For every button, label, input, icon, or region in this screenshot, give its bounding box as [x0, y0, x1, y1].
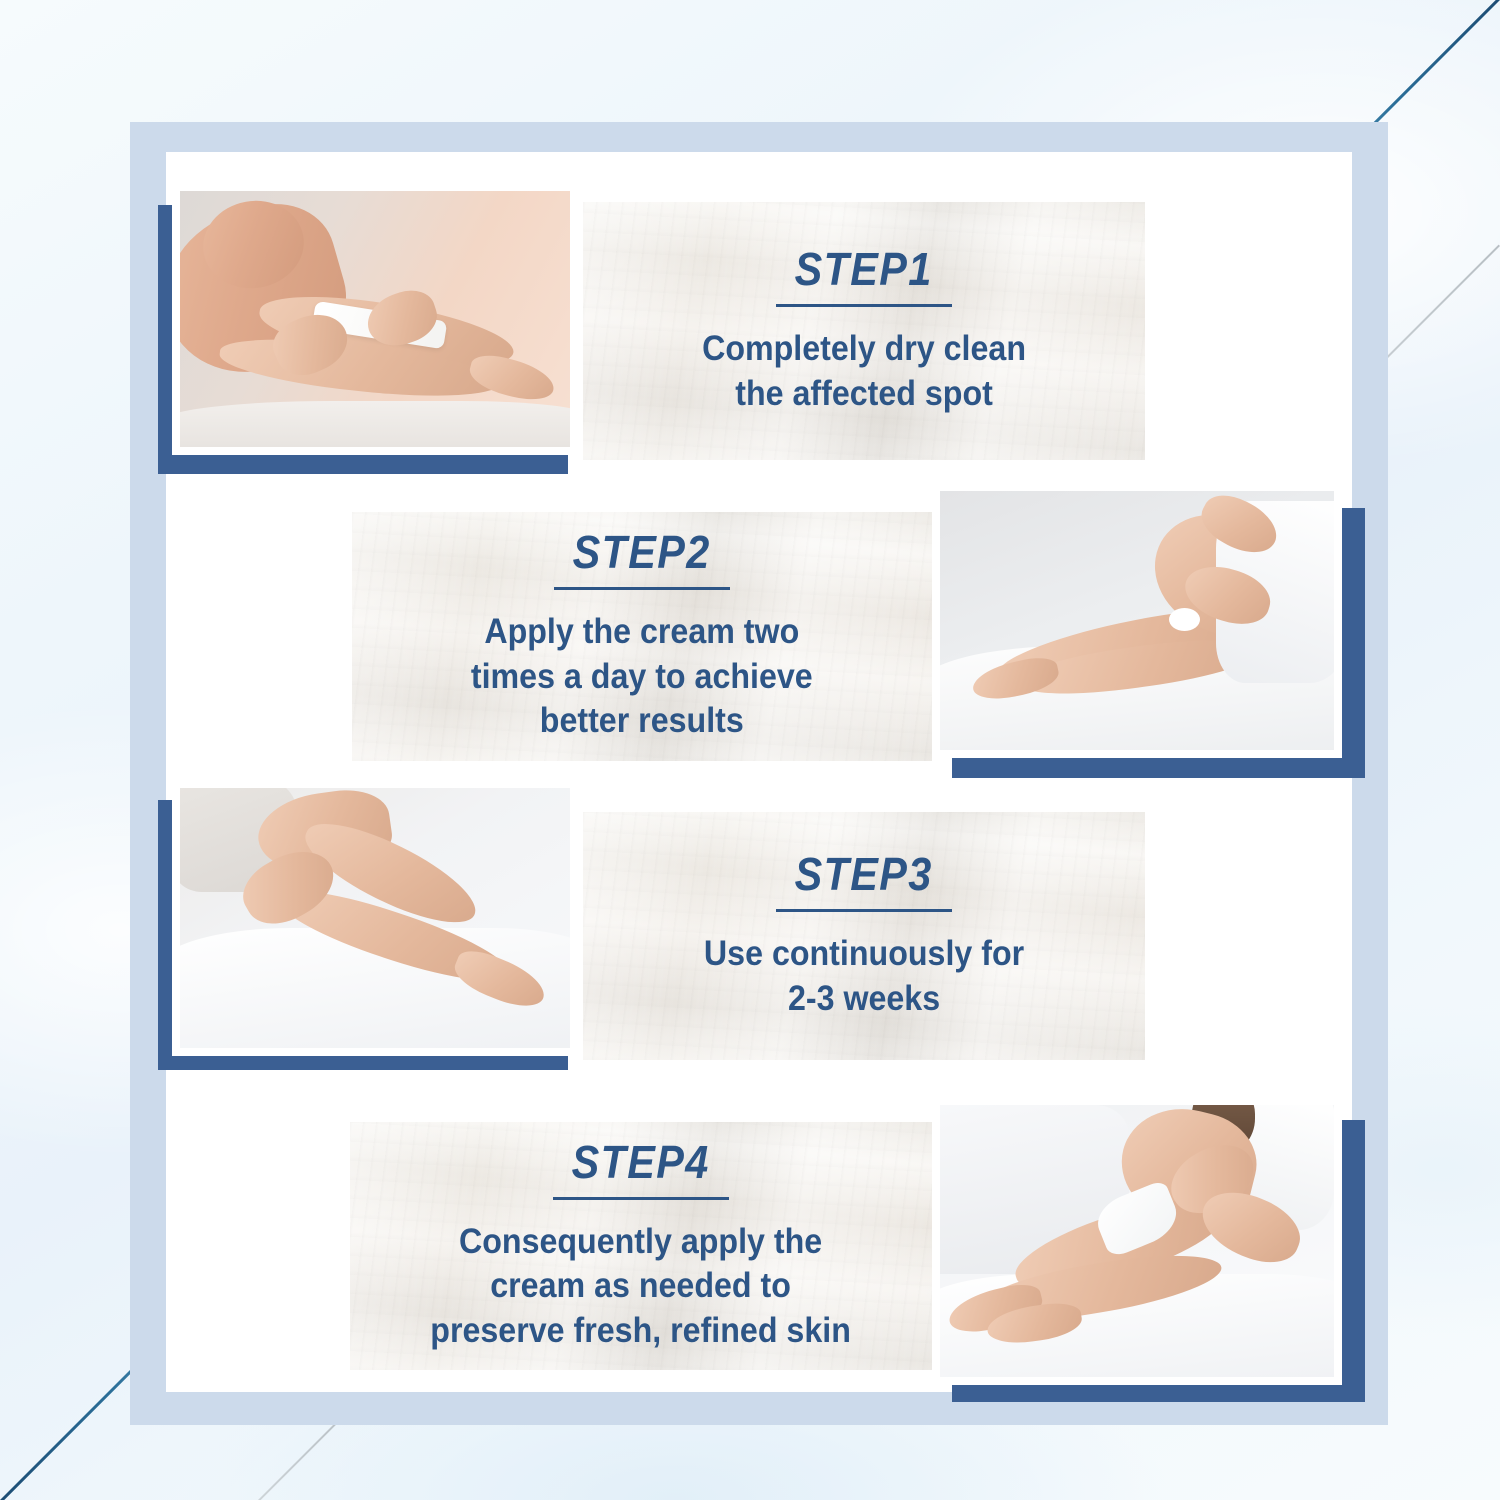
step-body-4: Consequently apply the cream as needed t…	[431, 1220, 852, 1353]
step-text-panel-3: STEP3 Use continuously for 2-3 weeks	[583, 812, 1145, 1060]
step-body-line: 2-3 weeks	[704, 977, 1024, 1021]
step-body-line: better results	[471, 699, 813, 743]
step-photo-2	[940, 491, 1334, 750]
step-title-underline-1	[776, 304, 952, 307]
step-body-line: Use continuously for	[704, 932, 1024, 976]
step-title-underline-4	[553, 1197, 729, 1200]
step-body-3: Use continuously for 2-3 weeks	[704, 932, 1024, 1021]
steps-list: STEP1 Completely dry clean the affected …	[0, 0, 1500, 1500]
step-body-1: Completely dry clean the affected spot	[702, 327, 1026, 416]
step-title-4: STEP4	[572, 1139, 710, 1185]
infographic-canvas: STEP1 Completely dry clean the affected …	[0, 0, 1500, 1500]
step-body-line: Apply the cream two	[471, 610, 813, 654]
photo-card-3	[172, 780, 578, 1056]
step-title-underline-3	[776, 909, 952, 912]
step-text-panel-1: STEP1 Completely dry clean the affected …	[583, 202, 1145, 460]
step-body-line: times a day to achieve	[471, 655, 813, 699]
step-text-panel-4: STEP4 Consequently apply the cream as ne…	[350, 1122, 932, 1370]
step-title-1: STEP1	[795, 246, 933, 292]
step-body-2: Apply the cream two times a day to achie…	[471, 610, 813, 743]
step-body-line: preserve fresh, refined skin	[431, 1309, 852, 1353]
photo-card-2	[932, 483, 1342, 758]
step-body-line: Consequently apply the	[431, 1220, 852, 1264]
step-title-3: STEP3	[795, 851, 933, 897]
step-photo-3	[180, 788, 570, 1048]
step-title-2: STEP2	[573, 529, 711, 575]
step-photo-1	[180, 191, 570, 447]
photo-card-1	[172, 183, 578, 455]
step-photo-4	[940, 1105, 1334, 1377]
step-body-line: cream as needed to	[431, 1264, 852, 1308]
step-title-underline-2	[554, 587, 730, 590]
step-text-panel-2: STEP2 Apply the cream two times a day to…	[352, 512, 932, 761]
photo-card-4	[932, 1097, 1342, 1385]
step-body-line: Completely dry clean	[702, 327, 1026, 371]
step-body-line: the affected spot	[702, 372, 1026, 416]
